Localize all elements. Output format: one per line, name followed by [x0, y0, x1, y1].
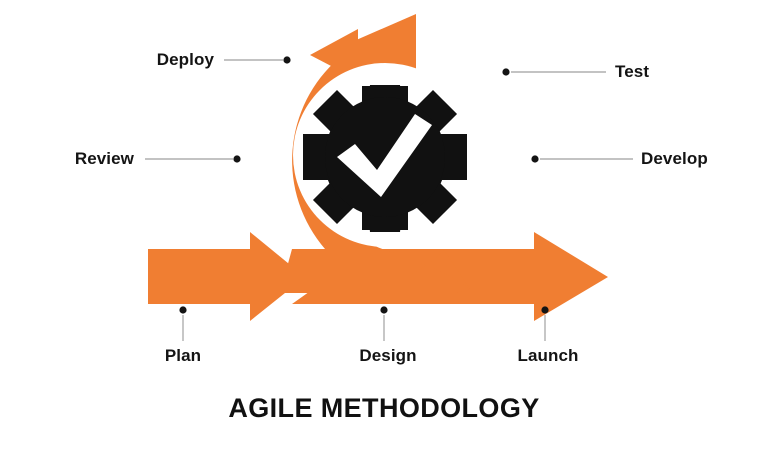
leader-dot-deploy	[283, 56, 290, 63]
callout-label-review[interactable]: Review	[68, 149, 134, 169]
agile-methodology-infographic: Deploy Review Test Develop Plan Design L…	[0, 0, 768, 451]
gear-check-icon	[303, 85, 467, 232]
callout-label-test[interactable]: Test	[615, 62, 657, 82]
leader-dot-review	[233, 155, 240, 162]
callout-label-design[interactable]: Design	[354, 346, 422, 366]
leader-dot-launch	[541, 306, 548, 313]
callout-label-launch[interactable]: Launch	[513, 346, 583, 366]
callout-label-deploy[interactable]: Deploy	[150, 50, 214, 70]
page-title: AGILE METHODOLOGY	[0, 393, 768, 424]
leader-dot-test	[502, 68, 509, 75]
leader-dot-develop	[531, 155, 538, 162]
left-flow-arrow	[148, 232, 305, 321]
leader-dot-plan	[179, 306, 186, 313]
callout-label-plan[interactable]: Plan	[155, 346, 211, 366]
callout-label-develop[interactable]: Develop	[641, 149, 715, 169]
leader-dot-design	[380, 306, 387, 313]
